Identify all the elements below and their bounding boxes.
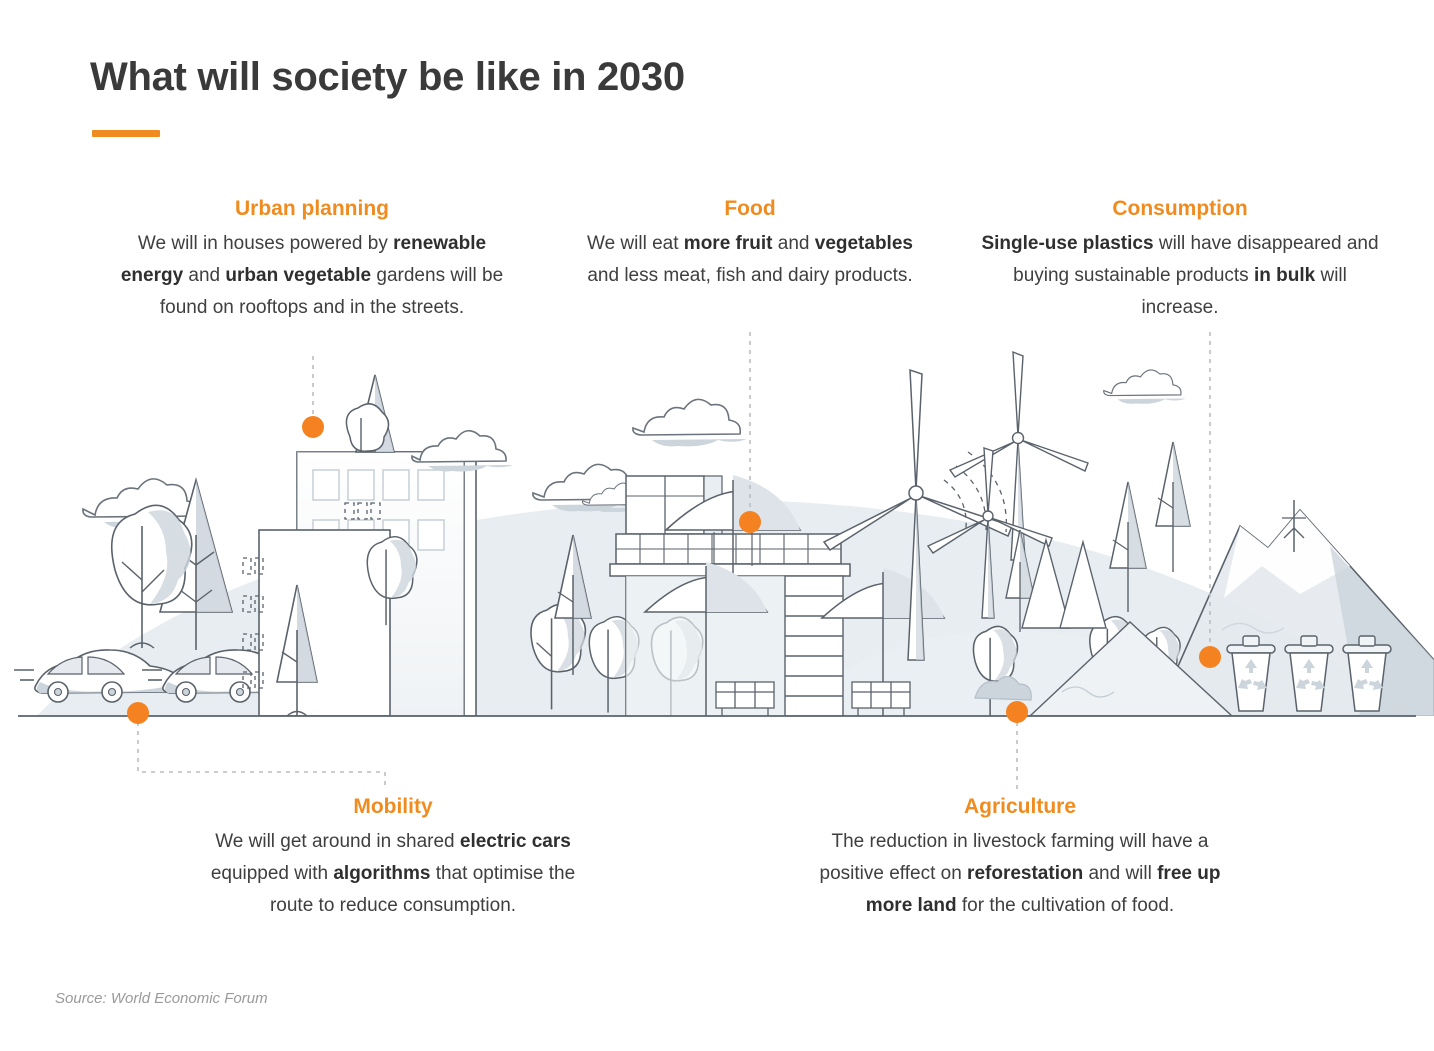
pine-tree: [1156, 442, 1190, 572]
callout-heading: Agriculture: [800, 794, 1240, 820]
callout-body: We will eat more fruit and vegetables an…: [580, 228, 920, 292]
callout-heading: Food: [580, 196, 920, 222]
callout-body: The reduction in livestock farming will …: [800, 826, 1240, 922]
illustration-scene: [0, 330, 1434, 750]
cloud-icon: [1104, 370, 1186, 404]
callout-urban-planning: Urban planning We will in houses powered…: [118, 196, 506, 324]
callout-food: Food We will eat more fruit and vegetabl…: [580, 196, 920, 292]
callout-heading: Mobility: [208, 794, 578, 820]
infographic-root: What will society be like in 2030: [0, 0, 1434, 1051]
callout-heading: Consumption: [980, 196, 1380, 222]
callout-agriculture: Agriculture The reduction in livestock f…: [800, 794, 1240, 922]
callout-body: We will in houses powered by renewable e…: [118, 228, 506, 324]
cloud-icon: [633, 399, 747, 446]
callout-heading: Urban planning: [118, 196, 506, 222]
callout-consumption: Consumption Single-use plastics will hav…: [980, 196, 1380, 324]
callout-body: Single-use plastics will have disappeare…: [980, 228, 1380, 324]
page-title: What will society be like in 2030: [90, 55, 685, 99]
title-underline-rule: [92, 130, 160, 137]
source-attribution: Source: World Economic Forum: [55, 990, 268, 1007]
callout-mobility: Mobility We will get around in shared el…: [208, 794, 578, 922]
callout-body: We will get around in shared electric ca…: [208, 826, 578, 922]
rooftop-deciduous-tree: [346, 404, 388, 452]
